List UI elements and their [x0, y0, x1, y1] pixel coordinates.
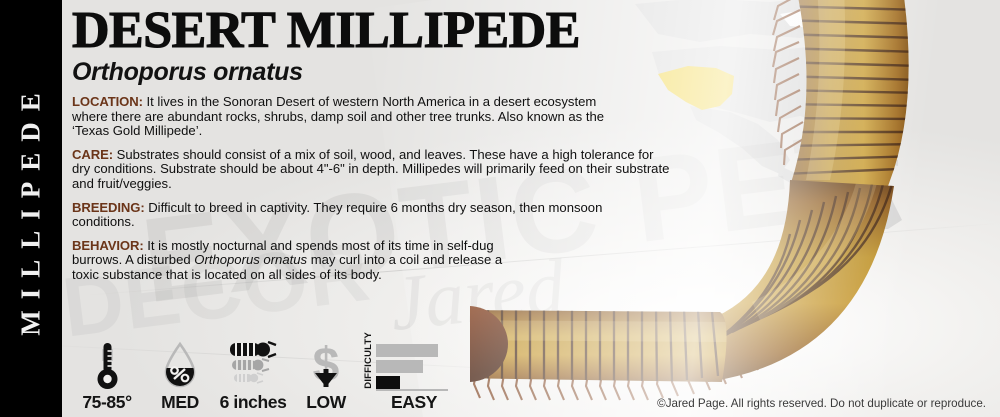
section-behavior: BEHAVIOR: It is mostly nocturnal and spe…	[72, 239, 522, 283]
care-sections: LOCATION: It lives in the Sonoran Desert…	[72, 95, 672, 283]
humidity-drop-icon	[145, 339, 215, 391]
section-care: CARE: Substrates should consist of a mix…	[72, 148, 672, 192]
difficulty-bar-hard	[376, 344, 438, 357]
size-value: 6 inches	[218, 392, 288, 413]
spec-difficulty: DIFFICULTY EASY	[364, 337, 452, 414]
section-location: LOCATION: It lives in the Sonoran Desert…	[72, 95, 632, 139]
humidity-value: MED	[145, 392, 215, 413]
section-location-label: LOCATION:	[72, 94, 143, 109]
section-behavior-label: BEHAVIOR:	[72, 238, 144, 253]
spec-temperature: 75-85°	[72, 339, 142, 413]
difficulty-axis-label: DIFFICULTY	[364, 331, 374, 389]
section-behavior-species-italic: Orthoporus ornatus	[194, 252, 307, 267]
section-location-body: It lives in the Sonoran Desert of wester…	[72, 94, 604, 138]
section-breeding-body: Difficult to breed in captivity. They re…	[72, 200, 602, 230]
difficulty-value: EASY	[376, 392, 452, 413]
cost-value: LOW	[291, 392, 361, 413]
difficulty-baseline	[376, 389, 448, 392]
difficulty-bar-group	[376, 344, 438, 389]
temperature-value: 75-85°	[72, 392, 142, 413]
sidebar: MILLIPEDE	[0, 0, 62, 417]
spec-icon-row: 75-85° MED	[72, 333, 452, 413]
page-title: DESERT MILLIPEDE	[72, 6, 772, 57]
thermometer-icon	[72, 339, 142, 391]
difficulty-bar-easy-active	[376, 376, 400, 389]
difficulty-bar-medium	[376, 360, 423, 373]
section-breeding: BREEDING: Difficult to breed in captivit…	[72, 201, 652, 230]
spec-humidity: MED	[145, 339, 215, 413]
copyright-notice: ©Jared Page. All rights reserved. Do not…	[657, 397, 986, 410]
spec-cost: $ LOW	[291, 339, 361, 413]
section-breeding-label: BREEDING:	[72, 200, 145, 215]
section-care-label: CARE:	[72, 147, 113, 162]
spec-size: 6 inches	[218, 339, 288, 413]
species-care-label: EXOTIC PET DECOR Jared	[0, 0, 1000, 417]
dollar-icon: $	[291, 339, 361, 391]
section-care-body: Substrates should consist of a mix of so…	[72, 147, 669, 191]
content-column: DESERT MILLIPEDE Orthoporus ornatus LOCA…	[72, 0, 772, 417]
sidebar-category-label: MILLIPEDE	[16, 82, 47, 336]
difficulty-bars-icon: DIFFICULTY	[364, 337, 452, 389]
scientific-name: Orthoporus ornatus	[72, 58, 772, 87]
millipede-size-icon	[218, 339, 288, 391]
